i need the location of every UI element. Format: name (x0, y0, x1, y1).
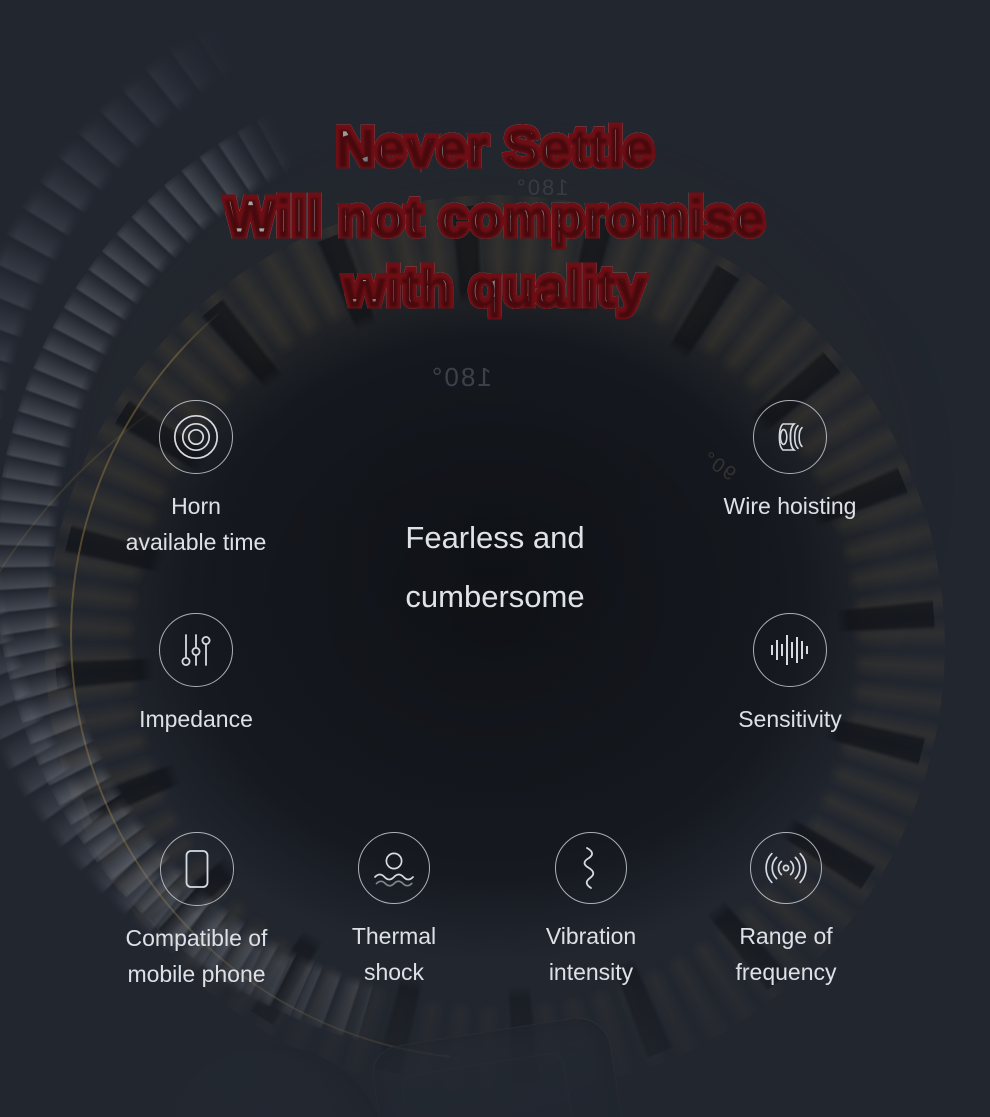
headline: Never Settle Will not compromise with qu… (0, 112, 990, 322)
headline-line-2-emphasis: Will (225, 187, 323, 247)
feature-vibration-intensity: Vibration intensity (505, 832, 677, 990)
concentric-circles-icon (159, 400, 233, 474)
feature-compatible-mobile-phone: Compatible of mobile phone (74, 832, 319, 992)
waveform-bars-icon (753, 613, 827, 687)
sliders-icon (159, 613, 233, 687)
headline-line-3: with quality (0, 252, 990, 322)
headline-line-1: Never Settle (0, 112, 990, 182)
radiating-waves-icon (750, 832, 822, 904)
feature-label: Compatible of mobile phone (74, 920, 319, 992)
headline-line-2: Will not compromise (0, 182, 990, 252)
promo-banner: 180° 180° 90° Never Settle Will not comp… (0, 0, 990, 1117)
feature-label: Vibration intensity (505, 918, 677, 990)
feature-label: Thermal shock (308, 918, 480, 990)
feature-label: Range of frequency (700, 918, 872, 990)
feature-thermal-shock: Thermal shock (308, 832, 480, 990)
feature-label: Wire hoisting (660, 488, 920, 524)
feature-impedance: Impedance (66, 613, 326, 737)
feature-label: Horn available time (66, 488, 326, 560)
headline-line-1-text: Never Settle (336, 117, 654, 177)
sun-waves-icon (358, 832, 430, 904)
zigzag-wave-icon (555, 832, 627, 904)
headline-line-2-text: not compromise (322, 187, 765, 247)
feature-wire-hoisting: Wire hoisting (660, 400, 920, 524)
mobile-phone-icon (160, 832, 234, 906)
feature-label: Sensitivity (660, 701, 920, 737)
wire-spool-icon (753, 400, 827, 474)
feature-range-of-frequency: Range of frequency (700, 832, 872, 990)
feature-sensitivity: Sensitivity (660, 613, 920, 737)
feature-label: Impedance (66, 701, 326, 737)
headline-line-3-text: with quality (344, 257, 647, 317)
feature-horn-available-time: Horn available time (66, 400, 326, 560)
